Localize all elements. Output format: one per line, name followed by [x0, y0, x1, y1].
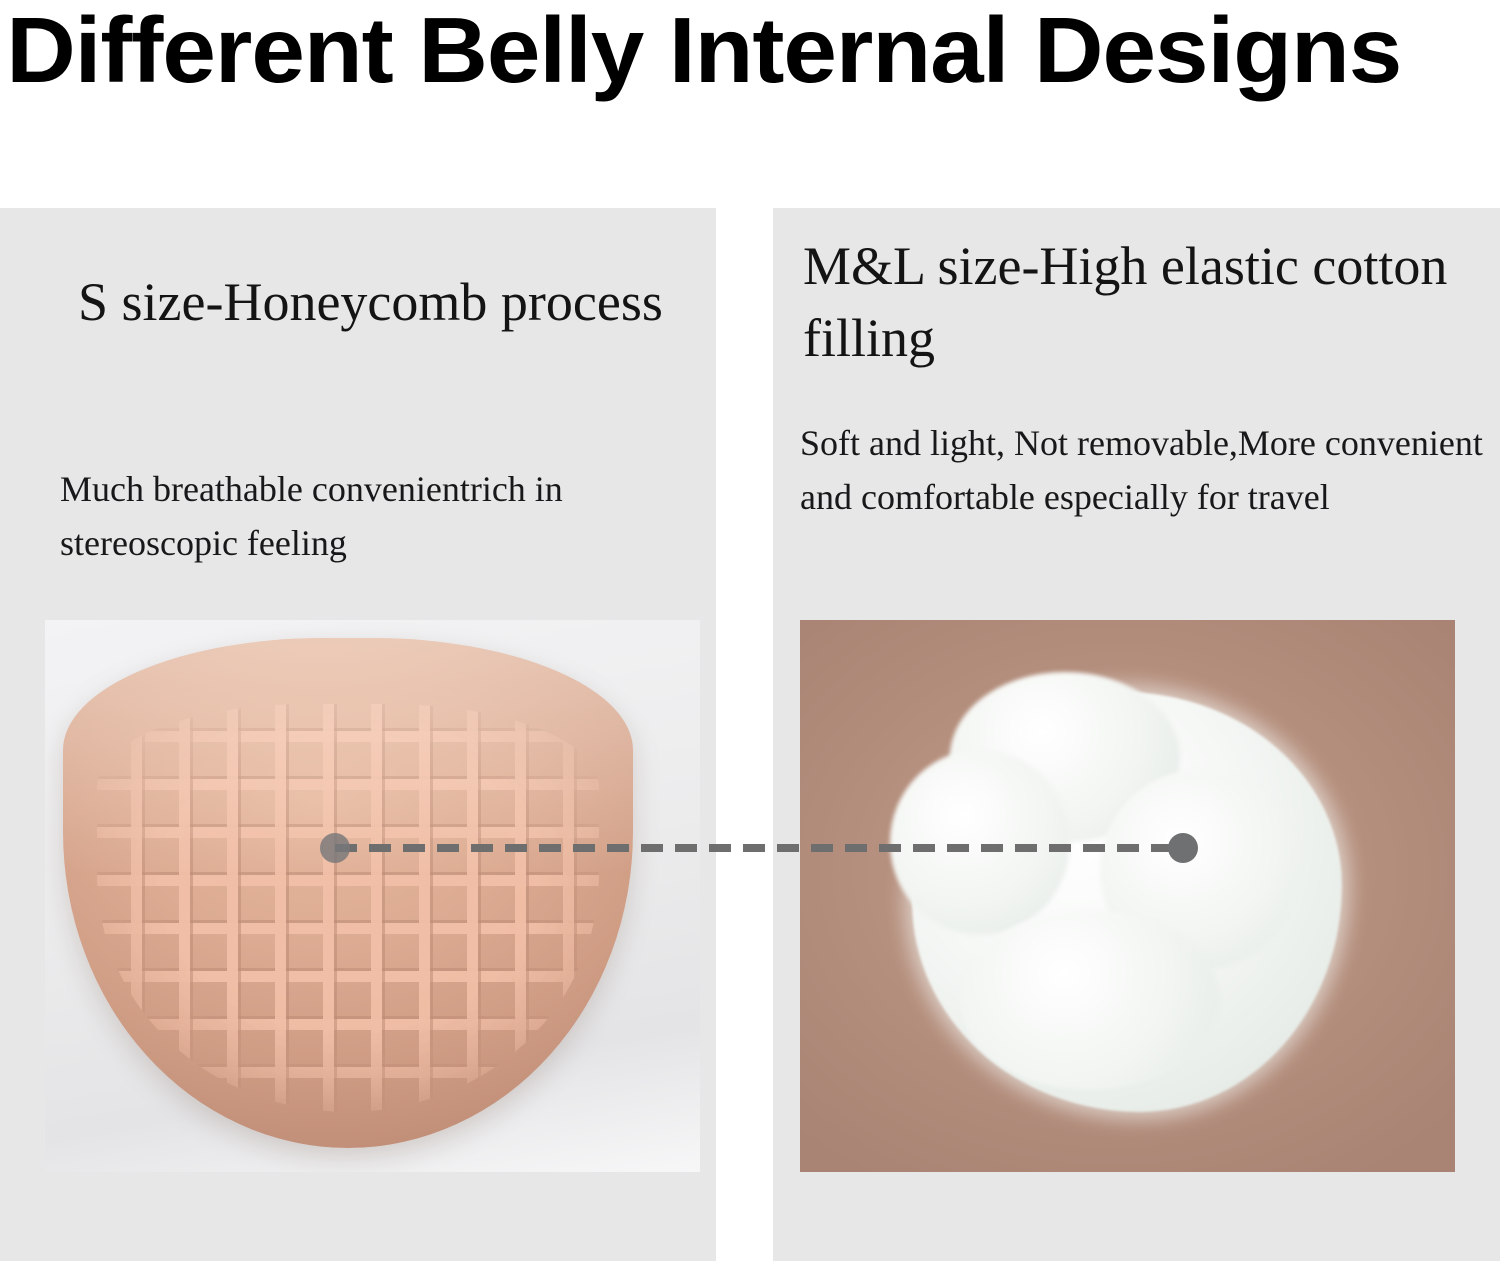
panel-ml-size: M&L size-High elastic cotton filling Sof… [773, 208, 1500, 1261]
comparison-panels: S size-Honeycomb process Much breathable… [0, 208, 1500, 1261]
page-title: Different Belly Internal Designs [0, 2, 1401, 98]
cotton-lobe-bottom [960, 910, 1220, 1090]
panel-ml-size-description: Soft and light, Not removable,More conve… [800, 416, 1500, 524]
panel-ml-size-heading: M&L size-High elastic cotton filling [803, 230, 1493, 374]
page-title-bar: Different Belly Internal Designs [0, 0, 1500, 100]
panel-s-size-description: Much breathable convenientrich in stereo… [60, 462, 660, 570]
honeycomb-pad-shape [63, 638, 633, 1148]
cotton-filling-photo [800, 620, 1455, 1172]
panel-s-size-heading: S size-Honeycomb process [78, 266, 678, 338]
honeycomb-belly-pad-photo [45, 620, 700, 1172]
cotton-lobe-left [890, 750, 1070, 935]
panel-s-size: S size-Honeycomb process Much breathable… [0, 208, 716, 1261]
honeycomb-grid-pattern [97, 704, 599, 1112]
